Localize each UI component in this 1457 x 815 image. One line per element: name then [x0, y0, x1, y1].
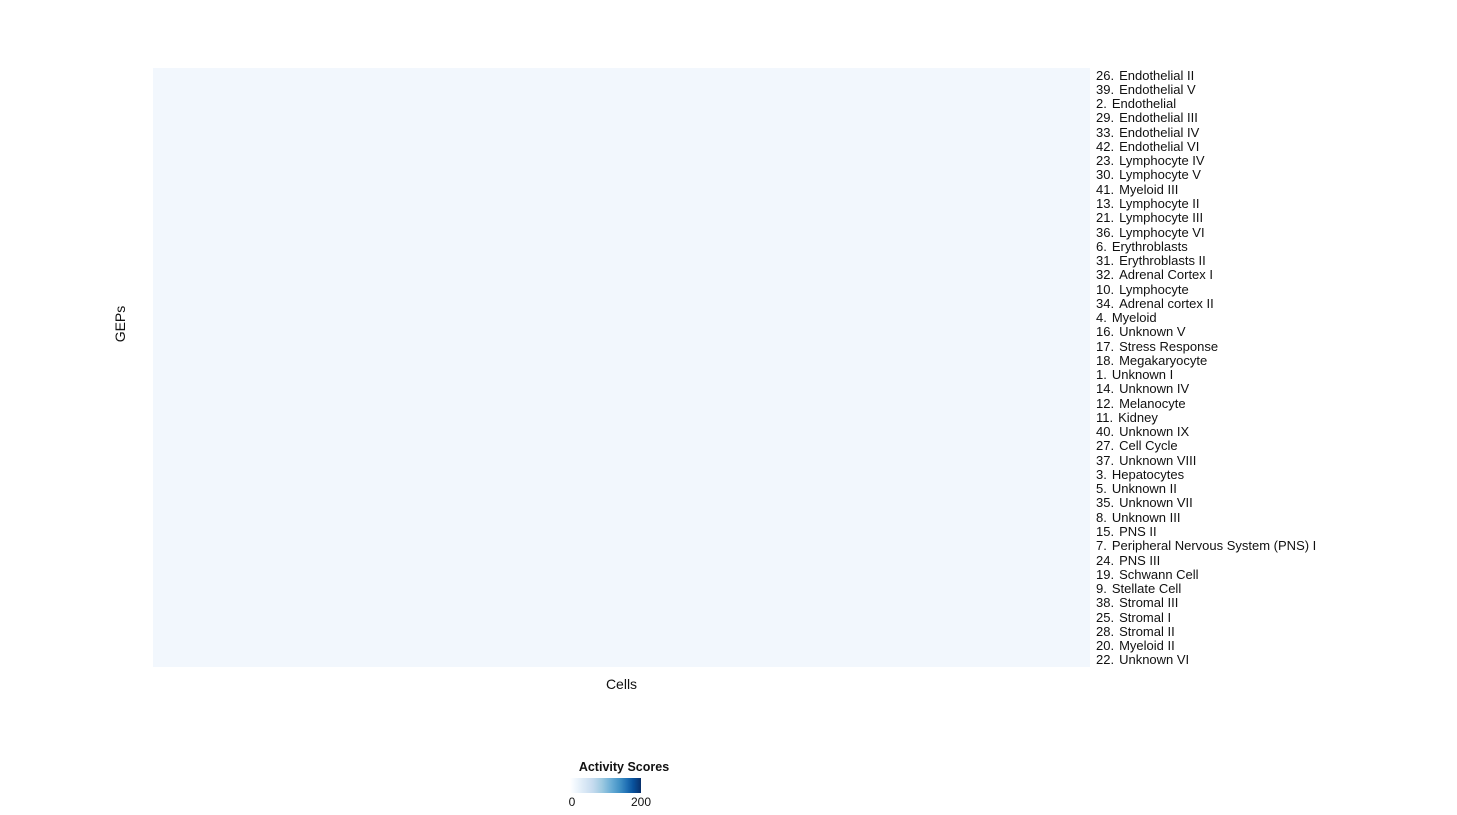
- row-label-number: 14.: [1096, 382, 1114, 395]
- row-label-name: Unknown II: [1112, 482, 1177, 495]
- row-label-number: 35.: [1096, 496, 1114, 509]
- row-label-number: 16.: [1096, 325, 1114, 338]
- row-label-name: Myeloid III: [1119, 183, 1178, 196]
- row-label-gep-34: 34.Adrenal cortex II: [1096, 297, 1214, 310]
- row-label-number: 1.: [1096, 368, 1107, 381]
- row-label-gep-22: 22.Unknown VI: [1096, 653, 1189, 666]
- row-label-number: 42.: [1096, 140, 1114, 153]
- row-label-gep-21: 21.Lymphocyte III: [1096, 211, 1203, 224]
- row-label-gep-31: 31.Erythroblasts II: [1096, 254, 1206, 267]
- row-label-name: Stromal I: [1119, 611, 1171, 624]
- row-label-number: 10.: [1096, 283, 1114, 296]
- row-label-gep-1: 1.Unknown I: [1096, 368, 1173, 381]
- row-label-name: Kidney: [1118, 411, 1158, 424]
- row-label-name: Cell Cycle: [1119, 439, 1178, 452]
- row-label-gep-36: 36.Lymphocyte VI: [1096, 226, 1205, 239]
- row-label-gep-30: 30.Lymphocyte V: [1096, 168, 1201, 181]
- row-label-number: 29.: [1096, 111, 1114, 124]
- row-label-gep-13: 13.Lymphocyte II: [1096, 197, 1200, 210]
- row-label-name: Lymphocyte VI: [1119, 226, 1205, 239]
- legend-tick-label-200: 200: [631, 795, 651, 809]
- row-label-number: 8.: [1096, 511, 1107, 524]
- row-label-name: Stromal III: [1119, 596, 1178, 609]
- row-label-number: 41.: [1096, 183, 1114, 196]
- row-label-name: Schwann Cell: [1119, 568, 1199, 581]
- row-label-number: 40.: [1096, 425, 1114, 438]
- row-label-number: 39.: [1096, 83, 1114, 96]
- row-label-gep-26: 26.Endothelial II: [1096, 69, 1194, 82]
- row-label-name: Hepatocytes: [1112, 468, 1184, 481]
- row-label-name: Unknown IX: [1119, 425, 1189, 438]
- row-label-number: 11.: [1096, 411, 1113, 424]
- row-label-name: Adrenal cortex II: [1119, 297, 1214, 310]
- row-label-gep-2: 2.Endothelial: [1096, 97, 1176, 110]
- row-label-name: Lymphocyte II: [1119, 197, 1199, 210]
- legend-title: Activity Scores: [522, 760, 726, 774]
- row-label-number: 34.: [1096, 297, 1114, 310]
- row-label-name: Unknown VII: [1119, 496, 1193, 509]
- row-label-number: 20.: [1096, 639, 1114, 652]
- row-label-number: 38.: [1096, 596, 1114, 609]
- row-label-name: Lymphocyte III: [1119, 211, 1203, 224]
- row-label-gep-42: 42.Endothelial VI: [1096, 140, 1199, 153]
- row-label-number: 18.: [1096, 354, 1114, 367]
- row-label-gep-3: 3.Hepatocytes: [1096, 468, 1184, 481]
- row-label-name: Lymphocyte: [1119, 283, 1189, 296]
- row-label-number: 22.: [1096, 653, 1114, 666]
- row-label-name: Erythroblasts II: [1119, 254, 1206, 267]
- row-label-gep-14: 14.Unknown IV: [1096, 382, 1189, 395]
- row-label-number: 4.: [1096, 311, 1107, 324]
- row-label-name: Myeloid II: [1119, 639, 1175, 652]
- row-label-number: 25.: [1096, 611, 1114, 624]
- row-label-number: 15.: [1096, 525, 1114, 538]
- row-label-name: Endothelial III: [1119, 111, 1198, 124]
- row-label-gep-35: 35.Unknown VII: [1096, 496, 1193, 509]
- x-axis-title: Cells: [153, 676, 1090, 692]
- row-label-name: Myeloid: [1112, 311, 1157, 324]
- row-label-name: Unknown VI: [1119, 653, 1189, 666]
- row-label-number: 3.: [1096, 468, 1107, 481]
- row-label-name: Megakaryocyte: [1119, 354, 1207, 367]
- heatmap-row-labels: 26.Endothelial II39.Endothelial V2.Endot…: [1096, 68, 1436, 667]
- row-label-number: 13.: [1096, 197, 1114, 210]
- row-label-gep-9: 9.Stellate Cell: [1096, 582, 1181, 595]
- row-label-number: 6.: [1096, 240, 1107, 253]
- row-label-number: 19.: [1096, 568, 1114, 581]
- row-label-number: 30.: [1096, 168, 1114, 181]
- row-label-gep-28: 28.Stromal II: [1096, 625, 1175, 638]
- row-label-name: Lymphocyte IV: [1119, 154, 1205, 167]
- row-label-gep-7: 7.Peripheral Nervous System (PNS) I: [1096, 539, 1316, 552]
- activity-scores-legend: Activity Scores 0200: [522, 760, 726, 810]
- row-label-name: Stress Response: [1119, 340, 1218, 353]
- row-label-gep-8: 8.Unknown III: [1096, 511, 1181, 524]
- legend-colorbar: [570, 778, 641, 793]
- row-label-number: 33.: [1096, 126, 1114, 139]
- heatmap-plot-area: [153, 68, 1090, 667]
- row-label-number: 27.: [1096, 439, 1114, 452]
- row-label-name: Peripheral Nervous System (PNS) I: [1112, 539, 1316, 552]
- row-label-number: 31.: [1096, 254, 1114, 267]
- row-label-number: 7.: [1096, 539, 1107, 552]
- row-label-number: 21.: [1096, 211, 1114, 224]
- row-label-gep-39: 39.Endothelial V: [1096, 83, 1196, 96]
- row-label-gep-6: 6.Erythroblasts: [1096, 240, 1188, 253]
- row-label-name: Stromal II: [1119, 625, 1175, 638]
- legend-tick-200: [641, 778, 643, 793]
- row-label-gep-16: 16.Unknown V: [1096, 325, 1186, 338]
- row-label-gep-4: 4.Myeloid: [1096, 311, 1157, 324]
- row-label-number: 32.: [1096, 268, 1114, 281]
- row-label-gep-29: 29.Endothelial III: [1096, 111, 1198, 124]
- gep-activity-heatmap-figure: GEPs Cells 26.Endothelial II39.Endotheli…: [0, 0, 1457, 815]
- row-label-gep-33: 33.Endothelial IV: [1096, 126, 1199, 139]
- row-label-gep-20: 20.Myeloid II: [1096, 639, 1175, 652]
- row-label-gep-11: 11.Kidney: [1096, 411, 1158, 424]
- row-label-gep-40: 40.Unknown IX: [1096, 425, 1189, 438]
- row-label-name: Erythroblasts: [1112, 240, 1188, 253]
- row-label-name: Endothelial II: [1119, 69, 1194, 82]
- row-label-number: 26.: [1096, 69, 1114, 82]
- row-label-name: PNS II: [1119, 525, 1157, 538]
- row-label-name: Stellate Cell: [1112, 582, 1181, 595]
- row-label-number: 37.: [1096, 454, 1114, 467]
- row-label-name: Endothelial V: [1119, 83, 1196, 96]
- row-label-name: Endothelial IV: [1119, 126, 1199, 139]
- row-label-number: 24.: [1096, 554, 1114, 567]
- row-label-gep-19: 19.Schwann Cell: [1096, 568, 1199, 581]
- legend-tick-label-0: 0: [569, 795, 576, 809]
- row-label-name: Unknown IV: [1119, 382, 1189, 395]
- row-label-gep-32: 32.Adrenal Cortex I: [1096, 268, 1213, 281]
- row-label-number: 2.: [1096, 97, 1107, 110]
- row-label-number: 12.: [1096, 397, 1114, 410]
- row-label-name: Endothelial VI: [1119, 140, 1199, 153]
- row-label-number: 36.: [1096, 226, 1114, 239]
- row-label-gep-37: 37.Unknown VIII: [1096, 454, 1196, 467]
- row-label-gep-25: 25.Stromal I: [1096, 611, 1171, 624]
- row-label-name: Unknown I: [1112, 368, 1173, 381]
- row-label-number: 9.: [1096, 582, 1107, 595]
- row-label-gep-27: 27.Cell Cycle: [1096, 439, 1178, 452]
- row-label-gep-41: 41.Myeloid III: [1096, 183, 1178, 196]
- row-label-number: 23.: [1096, 154, 1114, 167]
- row-label-number: 17.: [1096, 340, 1114, 353]
- row-label-gep-23: 23.Lymphocyte IV: [1096, 154, 1205, 167]
- row-label-gep-10: 10.Lymphocyte: [1096, 283, 1189, 296]
- row-label-gep-12: 12.Melanocyte: [1096, 397, 1186, 410]
- row-label-number: 5.: [1096, 482, 1107, 495]
- row-label-name: PNS III: [1119, 554, 1160, 567]
- row-label-name: Unknown V: [1119, 325, 1185, 338]
- row-label-name: Unknown III: [1112, 511, 1181, 524]
- row-label-number: 28.: [1096, 625, 1114, 638]
- y-axis-title: GEPs: [112, 274, 128, 374]
- row-label-gep-18: 18.Megakaryocyte: [1096, 354, 1207, 367]
- row-label-name: Melanocyte: [1119, 397, 1185, 410]
- row-label-gep-5: 5.Unknown II: [1096, 482, 1177, 495]
- row-label-gep-38: 38.Stromal III: [1096, 596, 1178, 609]
- row-label-name: Endothelial: [1112, 97, 1176, 110]
- row-label-gep-15: 15.PNS II: [1096, 525, 1157, 538]
- heatmap-canvas: [153, 68, 1090, 667]
- row-label-name: Adrenal Cortex I: [1119, 268, 1213, 281]
- row-label-name: Unknown VIII: [1119, 454, 1196, 467]
- row-label-gep-17: 17.Stress Response: [1096, 340, 1218, 353]
- row-label-gep-24: 24.PNS III: [1096, 554, 1160, 567]
- row-label-name: Lymphocyte V: [1119, 168, 1201, 181]
